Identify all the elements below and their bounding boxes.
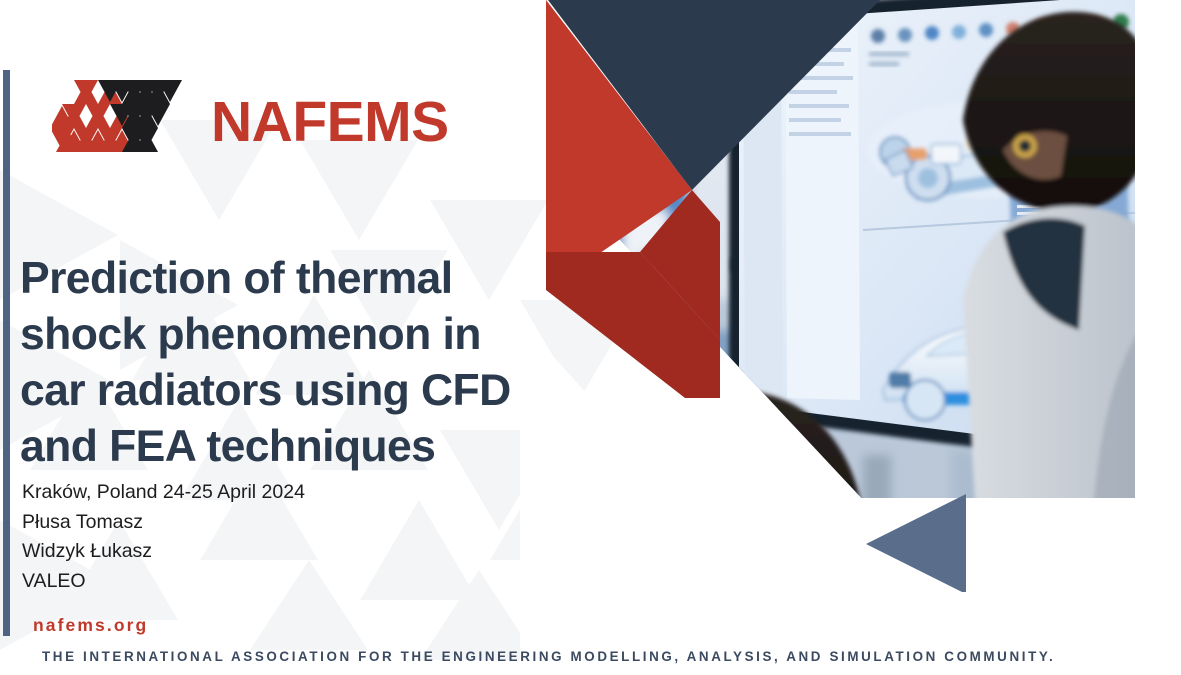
geometric-accents	[520, 0, 1181, 675]
nafems-triangle-mark-icon	[52, 78, 197, 166]
title-line-3: car radiators using CFD	[20, 363, 580, 419]
event-and-author-details: Kraków, Poland 24-25 April 2024 Płusa To…	[22, 478, 305, 597]
title-line-4: and FEA techniques	[20, 419, 580, 475]
nafems-website-link[interactable]: nafems.org	[33, 615, 148, 636]
author-name-2: Widzyk Łukasz	[22, 537, 305, 567]
nafems-wordmark: NAFEMS	[211, 94, 449, 151]
event-location-date: Kraków, Poland 24-25 April 2024	[22, 478, 305, 508]
author-name-1: Płusa Tomasz	[22, 508, 305, 538]
author-organisation: VALEO	[22, 567, 305, 597]
presentation-slide: NAFEMS Prediction of thermal shock pheno…	[0, 0, 1181, 675]
title-line-1: Prediction of thermal	[20, 251, 580, 307]
nafems-logo[interactable]: NAFEMS	[52, 78, 449, 166]
left-accent-bar	[3, 70, 10, 636]
page-title: Prediction of thermal shock phenomenon i…	[20, 251, 580, 474]
steel-triangle-left-pointing	[866, 494, 966, 594]
title-line-2: shock phenomenon in	[20, 307, 580, 363]
slide-artwork	[520, 0, 1181, 675]
association-tagline: THE INTERNATIONAL ASSOCIATION FOR THE EN…	[42, 649, 1055, 664]
